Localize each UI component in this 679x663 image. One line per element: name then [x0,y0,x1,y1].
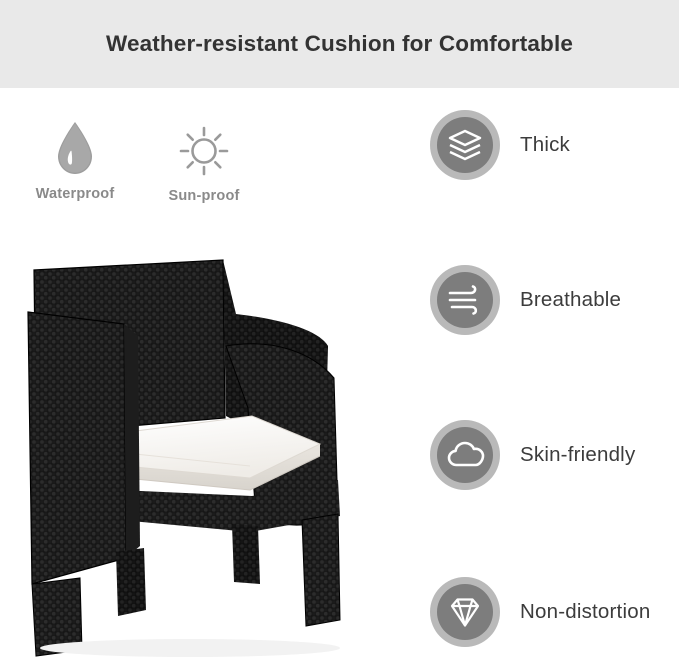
mini-badge-label: Sun-proof [129,188,279,204]
mini-badge-group: Waterproof S [0,106,420,246]
product-image-rattan-armchair [20,228,400,658]
feature-icon-badge [430,577,500,647]
feature-label: Non-distortion [520,600,650,624]
feature-label: Breathable [520,288,621,312]
feature-list: Thick Breathable [430,88,679,663]
layers-stack-icon [437,117,493,173]
feature-label: Thick [520,133,570,157]
feature-label: Skin-friendly [520,443,635,467]
feature-row-non-distortion: Non-distortion [430,575,679,649]
mini-badge-waterproof: Waterproof [0,116,150,202]
mini-badge-label: Waterproof [0,186,150,202]
mini-badge-sunproof: Sun-proof [129,118,279,204]
cloud-icon [437,427,493,483]
feature-row-thick: Thick [430,108,679,182]
feature-icon-badge [430,420,500,490]
content-area: Waterproof S [0,88,679,663]
feature-row-skin-friendly: Skin-friendly [430,418,679,492]
diamond-icon [437,584,493,640]
feature-icon-badge [430,265,500,335]
feature-row-breathable: Breathable [430,263,679,337]
wind-icon [437,272,493,328]
feature-icon-badge [430,110,500,180]
water-drop-icon [0,116,150,178]
header-band: Weather-resistant Cushion for Comfortabl… [0,0,679,88]
page-title: Weather-resistant Cushion for Comfortabl… [106,31,573,57]
sun-icon [129,118,279,180]
